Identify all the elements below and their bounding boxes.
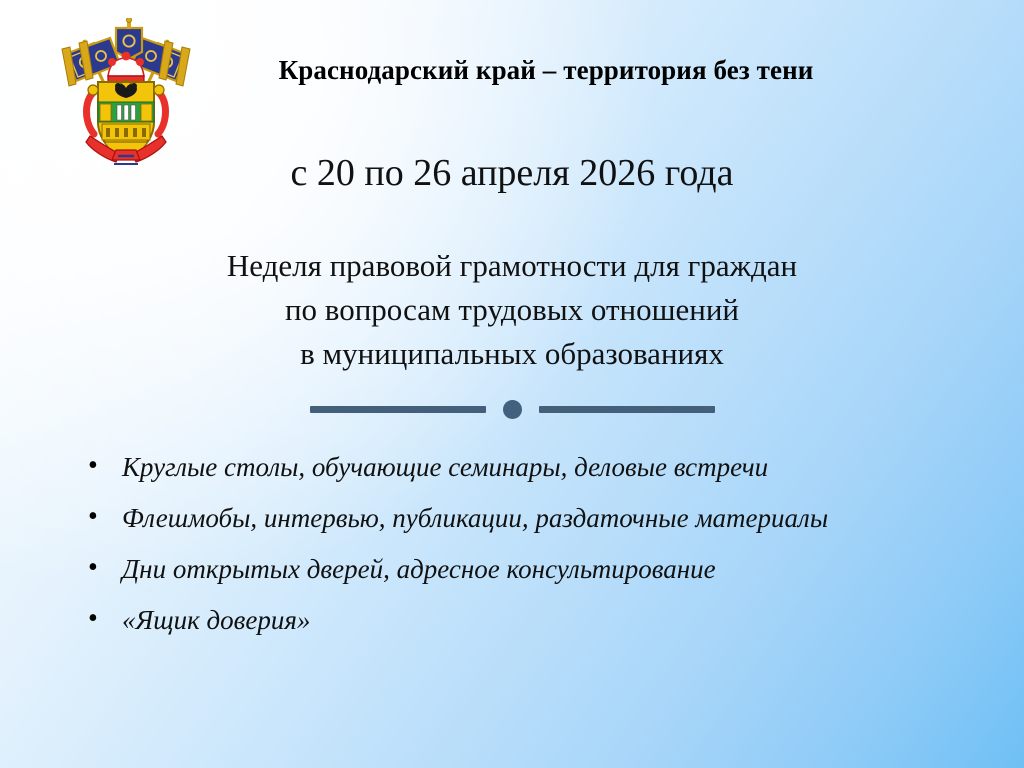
slide-subtitle: Неделя правовой грамотности для граждан … [0, 244, 1024, 376]
bullet-point-icon: • [88, 452, 122, 480]
slide-title: Краснодарский край – территория без тени [196, 56, 896, 86]
subtitle-line-3: в муниципальных образованиях [0, 332, 1024, 376]
list-item-label: Флешмобы, интервью, публикации, раздаточ… [122, 501, 828, 535]
coat-of-arms-icon [60, 18, 192, 166]
event-date-range: с 20 по 26 апреля 2026 года [0, 152, 1024, 196]
divider-bar-left [310, 406, 486, 413]
list-item-label: Круглые столы, обучающие семинары, делов… [122, 450, 768, 484]
bullet-point-icon: • [88, 503, 122, 531]
subtitle-line-1: Неделя правовой грамотности для граждан [0, 244, 1024, 288]
list-item: • Круглые столы, обучающие семинары, дел… [88, 450, 958, 488]
list-item: • «Ящик доверия» [88, 603, 958, 641]
list-item-label: Дни открытых дверей, адресное консультир… [122, 552, 716, 586]
list-item-label: «Ящик доверия» [122, 603, 310, 637]
divider-bar-right [539, 406, 715, 413]
list-item: • Дни открытых дверей, адресное консульт… [88, 552, 958, 590]
subtitle-line-2: по вопросам трудовых отношений [0, 288, 1024, 332]
bullet-point-icon: • [88, 554, 122, 582]
activities-list: • Круглые столы, обучающие семинары, дел… [88, 450, 958, 654]
bullet-point-icon: • [88, 605, 122, 633]
list-item: • Флешмобы, интервью, публикации, раздат… [88, 501, 958, 539]
divider-dot-icon [503, 400, 522, 419]
presentation-slide: Краснодарский край – территория без тени… [0, 0, 1024, 768]
divider-ornament [0, 400, 1024, 419]
